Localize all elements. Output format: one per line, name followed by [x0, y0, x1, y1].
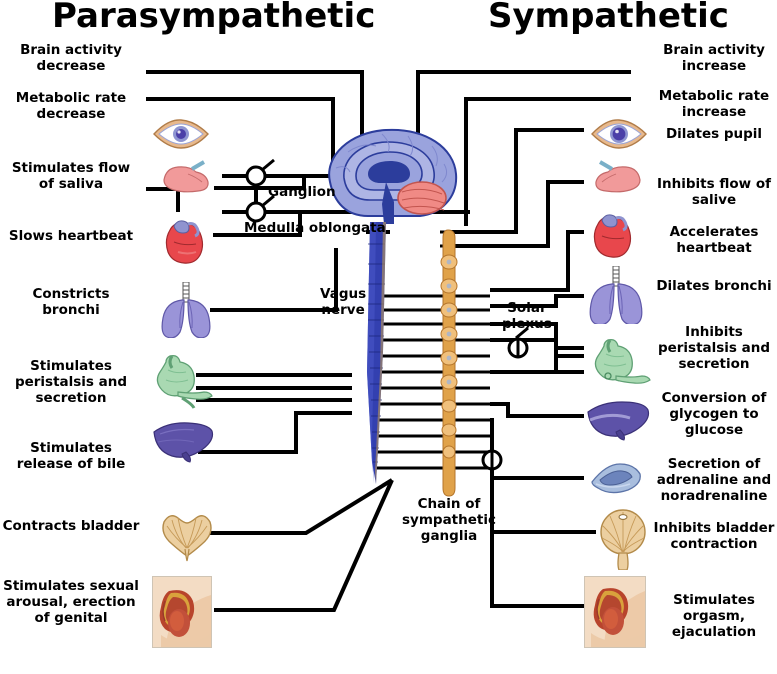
label-stimulates-orgasm-ejaculation: Stimulates orgasm, ejaculation [652, 592, 776, 640]
label-inhibits-flow-of-salive: Inhibits flow of salive [652, 176, 776, 208]
label-stimulates-peristalsis-and-secretion: Stimulates peristalsis and secretion [2, 358, 140, 406]
eye-icon [152, 118, 210, 150]
adrenal-gland-icon [588, 460, 646, 494]
label-brain-activity-increase: Brain activity increase [652, 42, 776, 74]
label-slows-heartbeat: Slows heartbeat [2, 228, 140, 244]
genital-icon [152, 576, 212, 648]
salivary-gland-icon [160, 160, 216, 194]
salivary-gland-icon [588, 160, 644, 194]
label-ganglion: Ganglion [268, 184, 336, 200]
bladder-icon [158, 508, 216, 562]
lungs-icon [586, 266, 646, 324]
label-inhibits-peristalsis-and-secretion: Inhibits peristalsis and secretion [652, 324, 776, 372]
label-dilates-bronchi: Dilates bronchi [652, 278, 776, 294]
stomach-icon [152, 354, 214, 410]
genital-icon [584, 576, 646, 648]
label-chain-of-sympathetic-ganglia: Chain of sympathetic ganglia [402, 496, 496, 544]
label-stimulates-flow-of-saliva: Stimulates flow of saliva [2, 160, 140, 192]
label-metabolic-rate-increase: Metabolic rate increase [652, 88, 776, 120]
label-dilates-pupil: Dilates pupil [652, 126, 776, 142]
bladder-icon [596, 508, 650, 570]
label-vagus-nerve: Vagus nerve [320, 286, 366, 318]
heart-icon [588, 212, 636, 258]
heart-icon [160, 218, 208, 264]
diagram-canvas: Parasympathetic Sympathetic [0, 0, 777, 674]
label-brain-activity-decrease: Brain activity decrease [2, 42, 140, 74]
label-stimulates-sexual-arousal: Stimulates sexual arousal, erection of g… [2, 578, 140, 626]
stomach-icon [586, 338, 652, 394]
label-contracts-bladder: Contracts bladder [2, 518, 140, 534]
label-constricts-bronchi: Constricts bronchi [2, 286, 140, 318]
liver-icon [152, 420, 214, 464]
label-conversion-of-glycogen-to-glucose: Conversion of glycogen to glucose [652, 390, 776, 438]
label-secretion-of-adrenaline: Secretion of adrenaline and noradrenalin… [652, 456, 776, 504]
lungs-icon [158, 282, 214, 338]
label-stimulates-release-of-bile: Stimulates release of bile [2, 440, 140, 472]
spinal-cord-icon [350, 222, 406, 492]
liver-icon [584, 398, 650, 442]
label-accelerates-heartbeat: Accelerates heartbeat [652, 224, 776, 256]
label-medulla-oblongata: Medulla oblongata [244, 220, 386, 236]
eye-icon [590, 118, 648, 150]
label-inhibits-bladder-contraction: Inhibits bladder contraction [652, 520, 776, 552]
label-solar-plexus: Solar plexus [502, 300, 552, 332]
ganglia-chain-icon [436, 228, 466, 498]
label-metabolic-rate-decrease: Metabolic rate decrease [2, 90, 140, 122]
